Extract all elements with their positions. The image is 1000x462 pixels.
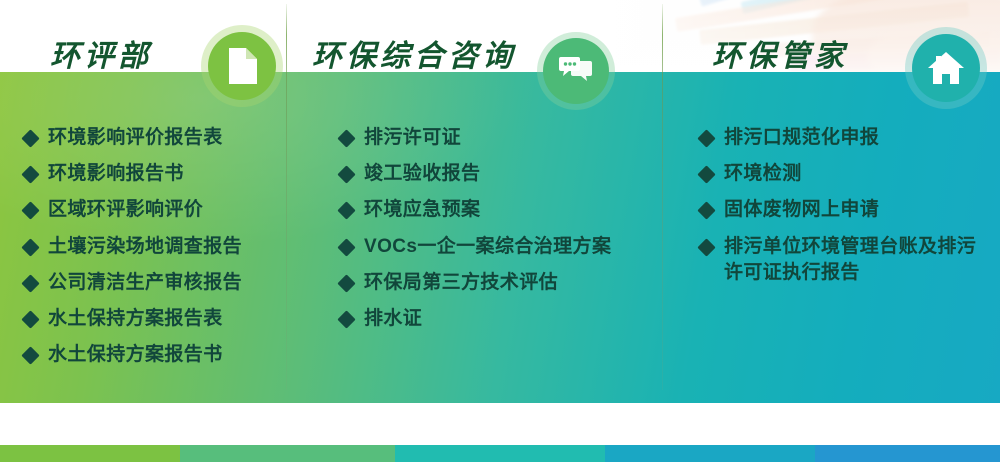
bottom-color-strip xyxy=(0,445,1000,462)
diamond-bullet-icon xyxy=(21,238,39,256)
list-item[interactable]: 公司清洁生产审核报告 xyxy=(24,270,280,296)
segment-green xyxy=(0,445,180,462)
list-item-label: 排污许可证 xyxy=(364,125,461,151)
diamond-bullet-icon xyxy=(21,274,39,292)
badge-document xyxy=(201,25,283,107)
diamond-bullet-icon xyxy=(337,310,355,328)
diamond-bullet-icon xyxy=(697,129,715,147)
list-item[interactable]: 排水证 xyxy=(340,306,658,332)
list-item-label: 竣工验收报告 xyxy=(364,161,480,187)
list-item-label: VOCs一企一案综合治理方案 xyxy=(364,234,611,260)
list-item-label: 土壤污染场地调查报告 xyxy=(48,234,242,260)
list-item[interactable]: 土壤污染场地调查报告 xyxy=(24,234,280,260)
list-item[interactable]: 环境影响评价报告表 xyxy=(24,125,280,151)
list-item-label: 环境应急预案 xyxy=(364,197,480,223)
segment-blue-teal xyxy=(605,445,815,462)
chat-icon xyxy=(559,57,593,85)
list-item-label: 水土保持方案报告表 xyxy=(48,306,223,332)
column-header-zonghe: 环保综合咨询 xyxy=(286,0,662,75)
list-item[interactable]: 环境检测 xyxy=(700,161,990,187)
list-item[interactable]: 排污许可证 xyxy=(340,125,658,151)
badge-chat xyxy=(537,32,615,110)
diamond-bullet-icon xyxy=(697,238,715,256)
diamond-bullet-icon xyxy=(697,202,715,220)
list-item-label: 排污单位环境管理台账及排污 许可证执行报告 xyxy=(724,234,976,286)
infographic-banner: 环评部 环保综合咨询 环保管家 xyxy=(0,0,1000,462)
diamond-bullet-icon xyxy=(337,202,355,220)
document-icon xyxy=(227,48,257,84)
diamond-bullet-icon xyxy=(21,129,39,147)
diamond-bullet-icon xyxy=(21,166,39,184)
list-item[interactable]: 竣工验收报告 xyxy=(340,161,658,187)
column-title-huanping: 环评部 xyxy=(50,31,152,75)
list-item-label: 排污口规范化申报 xyxy=(724,125,879,151)
segment-mid-green xyxy=(180,445,395,462)
diamond-bullet-icon xyxy=(697,166,715,184)
diamond-bullet-icon xyxy=(21,347,39,365)
list-item[interactable]: 排污单位环境管理台账及排污 许可证执行报告 xyxy=(700,234,990,286)
segment-teal xyxy=(395,445,605,462)
diamond-bullet-icon xyxy=(337,166,355,184)
home-icon xyxy=(927,51,965,85)
badge-home xyxy=(905,27,987,109)
list-item-label: 区域环评影响评价 xyxy=(48,197,203,223)
list-item[interactable]: 固体废物网上申请 xyxy=(700,197,990,223)
list-item-label: 环境影响评价报告表 xyxy=(48,125,223,151)
column-header-huanping: 环评部 xyxy=(0,0,286,75)
column-title-zonghe: 环保综合咨询 xyxy=(312,31,516,75)
list-item-label: 环保局第三方技术评估 xyxy=(364,270,558,296)
list-guanjia: 排污口规范化申报 环境检测 固体废物网上申请 排污单位环境管理台账及排污 许可证… xyxy=(700,125,990,296)
list-huanping: 环境影响评价报告表 环境影响报告书 区域环评影响评价 土壤污染场地调查报告 公司… xyxy=(24,125,280,379)
list-item[interactable]: 环保局第三方技术评估 xyxy=(340,270,658,296)
list-item[interactable]: 水土保持方案报告书 xyxy=(24,342,280,368)
list-item-label: 固体废物网上申请 xyxy=(724,197,879,223)
list-item[interactable]: 环境应急预案 xyxy=(340,197,658,223)
diamond-bullet-icon xyxy=(21,202,39,220)
list-item-label: 环境影响报告书 xyxy=(48,161,184,187)
white-separator xyxy=(0,403,1000,445)
list-item-label: 水土保持方案报告书 xyxy=(48,342,223,368)
list-item[interactable]: 水土保持方案报告表 xyxy=(24,306,280,332)
list-item[interactable]: 区域环评影响评价 xyxy=(24,197,280,223)
list-item-label: 排水证 xyxy=(364,306,422,332)
list-item[interactable]: 环境影响报告书 xyxy=(24,161,280,187)
list-item[interactable]: VOCs一企一案综合治理方案 xyxy=(340,234,658,260)
diamond-bullet-icon xyxy=(337,129,355,147)
column-header-guanjia: 环保管家 xyxy=(662,0,1000,75)
list-item[interactable]: 排污口规范化申报 xyxy=(700,125,990,151)
diamond-bullet-icon xyxy=(337,238,355,256)
list-zonghe: 排污许可证 竣工验收报告 环境应急预案 VOCs一企一案综合治理方案 环保局第三… xyxy=(340,125,658,342)
list-item-label: 公司清洁生产审核报告 xyxy=(48,270,242,296)
segment-blue xyxy=(815,445,1000,462)
diamond-bullet-icon xyxy=(337,274,355,292)
list-item-label: 环境检测 xyxy=(724,161,802,187)
diamond-bullet-icon xyxy=(21,310,39,328)
column-title-guanjia: 环保管家 xyxy=(712,31,848,75)
